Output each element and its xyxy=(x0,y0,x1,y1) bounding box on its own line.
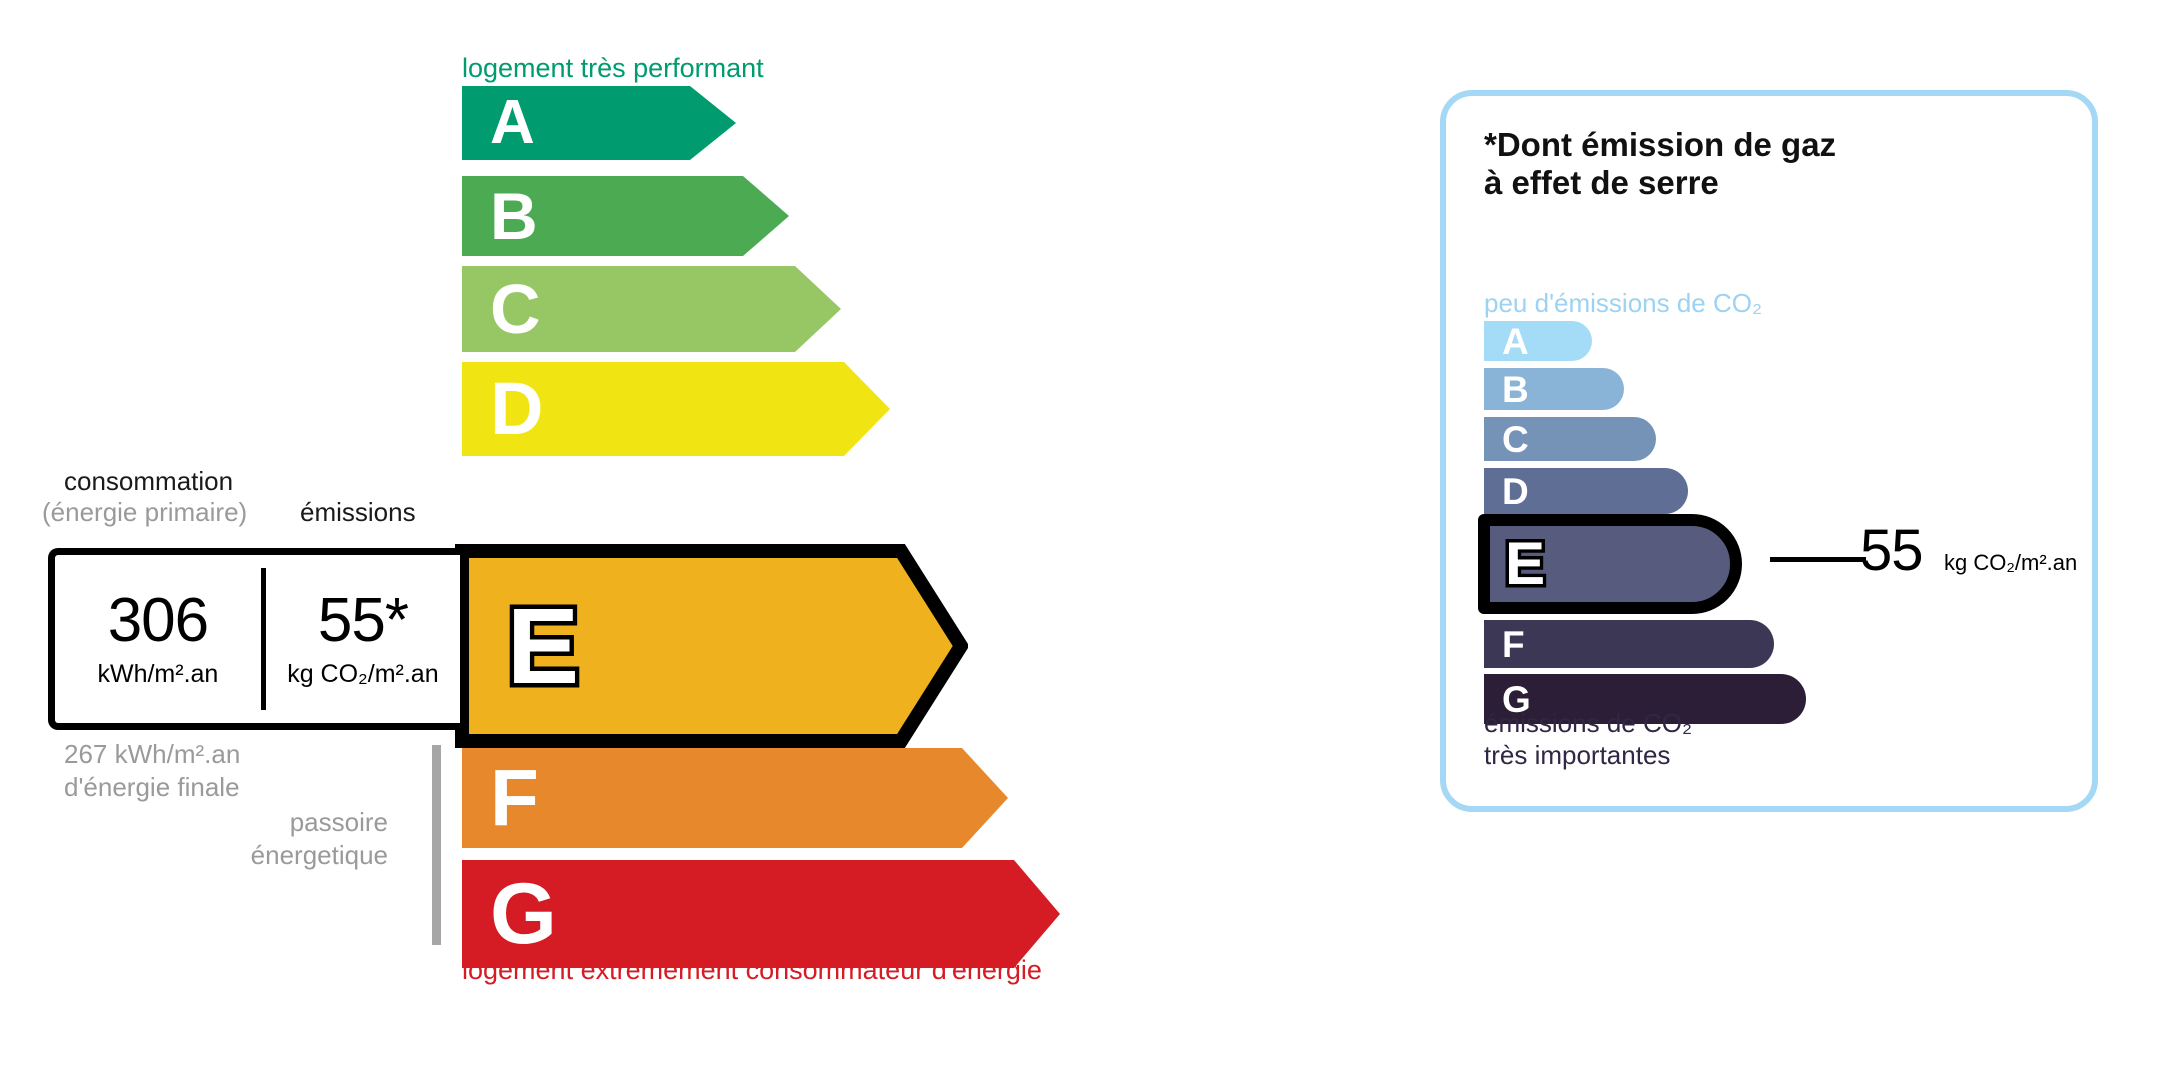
energy-band-f: F xyxy=(462,748,1008,848)
consumption-value-cell: 306 kWh/m².an xyxy=(55,555,261,723)
label-emissions: émissions xyxy=(300,497,416,528)
energy-band-letter: G xyxy=(490,871,557,957)
co2-bar-letter: C xyxy=(1502,421,1529,458)
co2-bar-letter: E xyxy=(1505,534,1545,594)
energy-band-letter: F xyxy=(490,758,539,838)
energy-band-b: B xyxy=(462,176,789,256)
energy-band-letter: C xyxy=(490,274,541,344)
energy-performance-scale: logement très performant ABCDEEFG consom… xyxy=(0,0,1300,1079)
label-consommation: consommation xyxy=(64,466,233,497)
co2-bar-c: C xyxy=(1484,417,1656,461)
energy-band-g: G xyxy=(462,860,1060,968)
emission-number: 55* xyxy=(318,590,408,652)
co2-bar-letter: B xyxy=(1502,371,1529,408)
co2-bar-letter: D xyxy=(1502,473,1529,510)
co2-bar-a: A xyxy=(1484,321,1592,361)
co2-bar-f: F xyxy=(1484,620,1774,668)
co2-bar-letter: A xyxy=(1502,323,1529,360)
passoire-indicator-bar xyxy=(432,745,441,945)
consumption-number: 306 xyxy=(108,590,208,652)
co2-emission-panel: *Dont émission de gazà effet de serre pe… xyxy=(1440,90,2098,812)
consumption-unit: kWh/m².an xyxy=(97,660,218,689)
co2-callout-leader-line xyxy=(1770,557,1866,562)
co2-panel-title: *Dont émission de gazà effet de serre xyxy=(1484,126,1836,203)
energy-band-letter: A xyxy=(490,92,535,154)
energy-band-e-selected: EE xyxy=(455,544,968,748)
energy-band-d: D xyxy=(462,362,890,456)
emission-unit: kg CO₂/m².an xyxy=(287,660,438,689)
co2-callout-unit: kg CO₂/m².an xyxy=(1944,552,2077,574)
co2-bar-d: D xyxy=(1484,468,1688,514)
scale-bottom-caption: logement extrêmement consommateur d'éner… xyxy=(462,955,1042,986)
energy-band-letter: B xyxy=(490,183,538,249)
values-box: 306 kWh/m².an 55* kg CO₂/m².an xyxy=(48,548,460,730)
label-energie-finale: 267 kWh/m².and'énergie finale xyxy=(64,738,240,803)
scale-top-caption: logement très performant xyxy=(462,53,764,84)
co2-bar-letter: F xyxy=(1502,626,1525,663)
co2-bottom-caption: émissions de CO₂très importantes xyxy=(1484,708,1692,771)
label-energie-primaire: (énergie primaire) xyxy=(42,497,247,528)
label-passoire-energetique: passoireénergetique xyxy=(160,806,388,871)
co2-callout-value: 55 xyxy=(1860,522,1923,580)
dpe-diagram: logement très performant ABCDEEFG consom… xyxy=(0,0,2169,1079)
energy-band-letter: D xyxy=(490,372,543,446)
co2-top-caption: peu d'émissions de CO₂ xyxy=(1484,288,1762,319)
emission-value-cell: 55* kg CO₂/m².an xyxy=(266,555,460,723)
energy-band-a: A xyxy=(462,86,736,160)
energy-band-c: C xyxy=(462,266,841,352)
co2-bar-b: B xyxy=(1484,368,1624,410)
co2-bar-e-selected: EE xyxy=(1478,514,1742,614)
energy-band-letter: E xyxy=(507,592,579,700)
